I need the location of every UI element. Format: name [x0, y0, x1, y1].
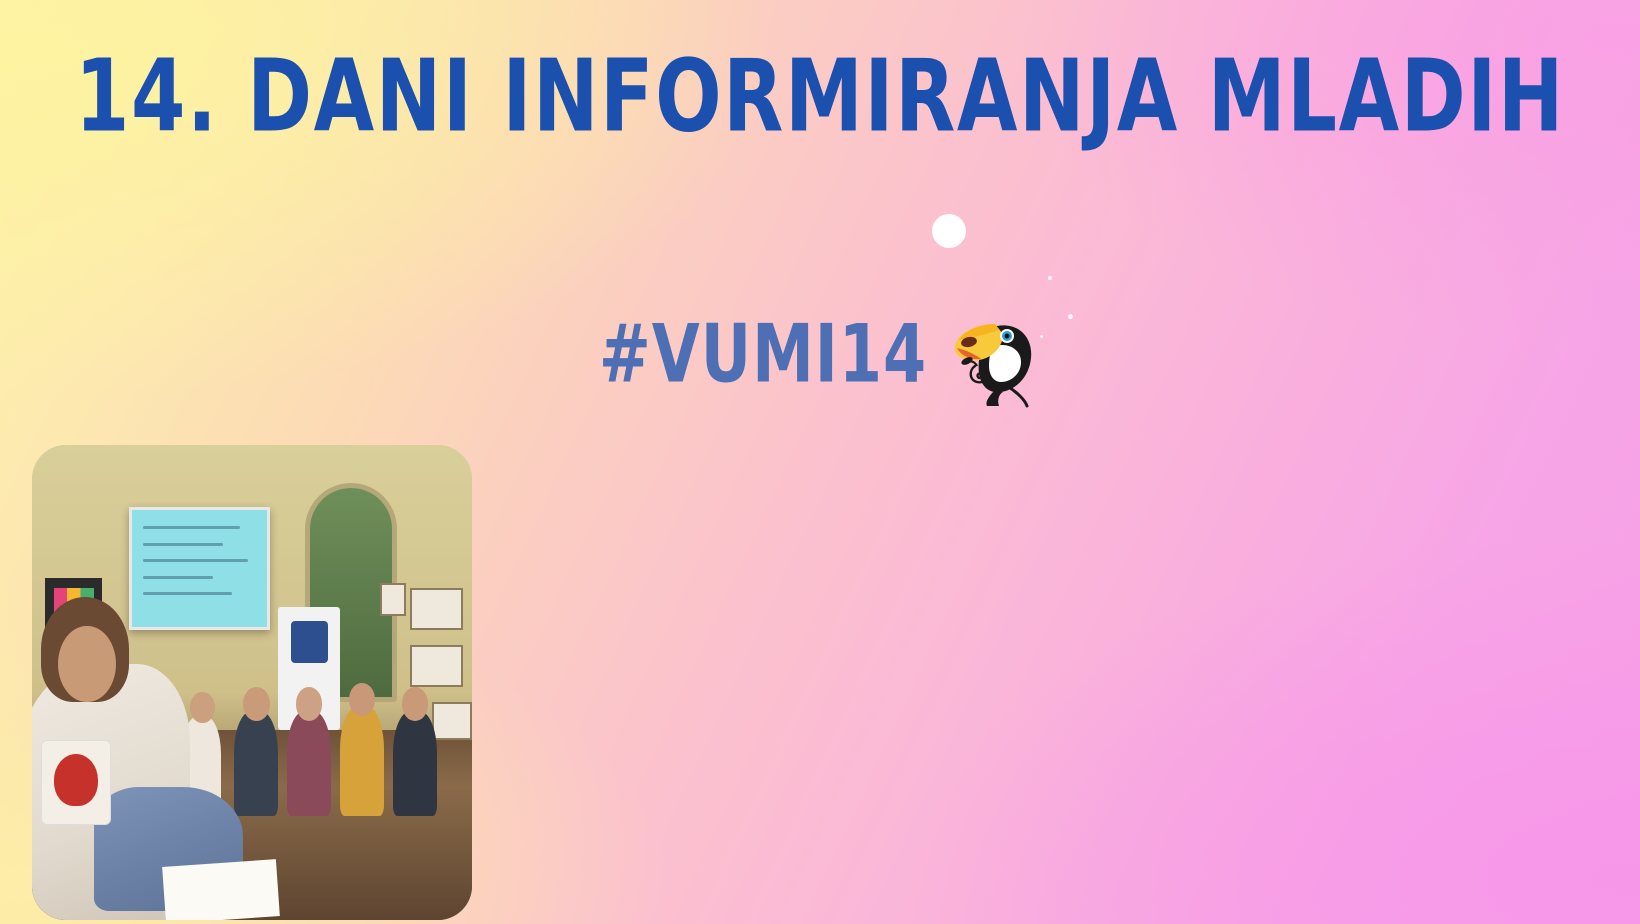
page-title: 14. DANI INFORMIRANJA MLADIH — [0, 46, 1640, 146]
title-block: 14. DANI INFORMIRANJA MLADIH — [0, 46, 1640, 122]
photo-content — [32, 445, 472, 920]
hashtag-row: #VUMI14 — [0, 300, 1640, 408]
sparkle-icon — [1048, 276, 1052, 280]
poster-canvas: 14. DANI INFORMIRANJA MLADIH #VUMI14 — [0, 0, 1640, 924]
decorative-dot — [932, 214, 966, 248]
photo-mental-health-lecture — [32, 445, 472, 920]
toucan-icon — [945, 300, 1041, 408]
hashtag-label: #VUMI14 — [599, 314, 927, 395]
